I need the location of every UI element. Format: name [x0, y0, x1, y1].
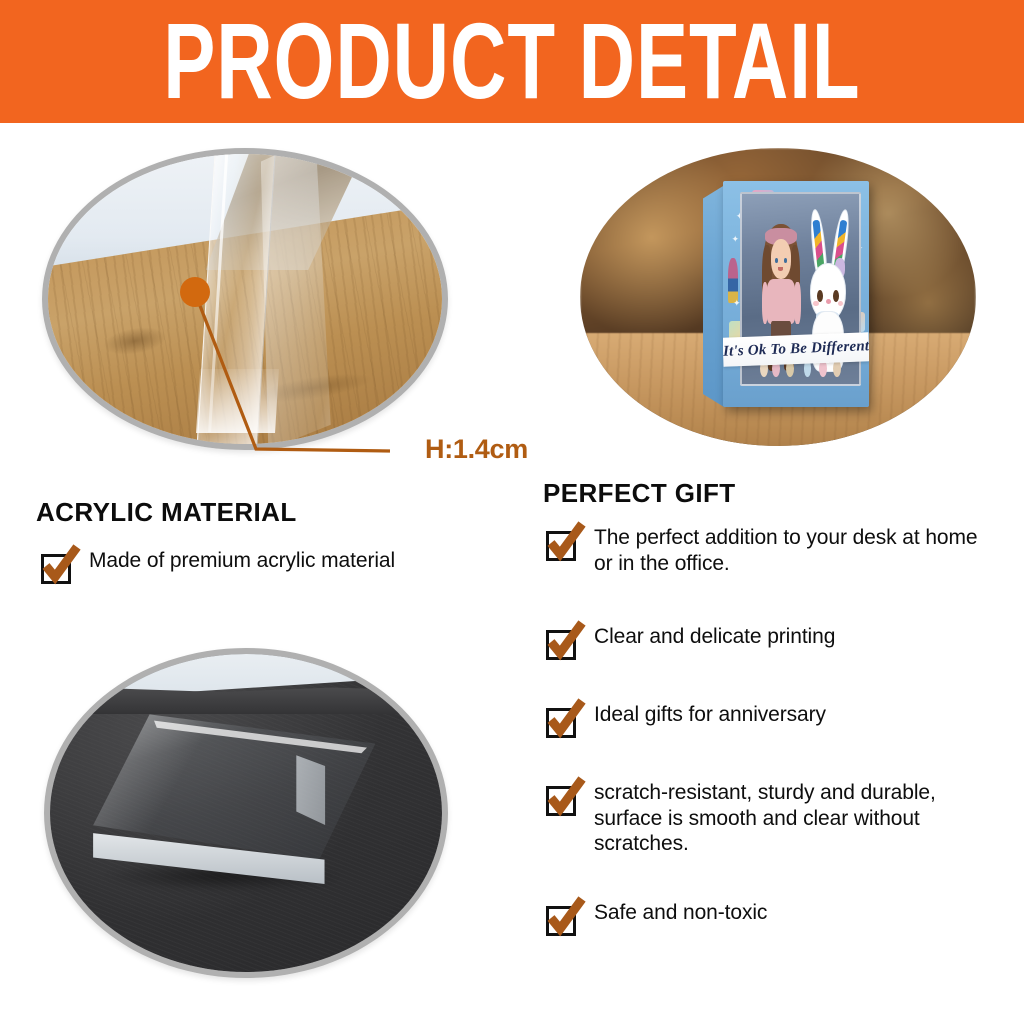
page-title: PRODUCT DETAIL: [163, 7, 860, 115]
feature-item: Ideal gifts for anniversary: [546, 702, 991, 738]
bunny-eye: [833, 290, 839, 302]
bunny-cheek: [813, 301, 819, 307]
gift-box-image: ✦ ✦ ✦ ✦ ✦ ✦: [580, 148, 976, 446]
feature-label: Ideal gifts for anniversary: [594, 702, 826, 728]
feature-label: Made of premium acrylic material: [89, 548, 395, 574]
doll-arm: [794, 282, 800, 325]
doll-eye: [784, 258, 787, 263]
feature-item: Clear and delicate printing: [546, 624, 991, 660]
feature-item: scratch-resistant, sturdy and durable, s…: [546, 780, 1006, 857]
checkbox-checked: [546, 527, 580, 561]
box-caption-text: It's Ok To Be Different: [723, 338, 869, 361]
awareness-ribbon-icon: [728, 258, 738, 303]
checkmark-icon: [545, 521, 587, 563]
slate-back-edge: [50, 686, 442, 715]
box-side-panel: [703, 185, 725, 407]
checkbox-checked: [41, 550, 75, 584]
slate-surface: [50, 654, 442, 972]
doll-sweater: [767, 279, 796, 325]
feature-label: Clear and delicate printing: [594, 624, 835, 650]
doll-face: [771, 239, 792, 279]
height-label: H:1.4cm: [425, 434, 528, 465]
checkmark-icon: [40, 544, 82, 586]
header-banner: PRODUCT DETAIL: [0, 0, 1024, 123]
feature-label: The perfect addition to your desk at hom…: [594, 525, 991, 576]
checkmark-icon: [545, 698, 587, 740]
checkmark-icon: [545, 896, 587, 938]
bunny-eye: [817, 290, 823, 302]
box-front-panel: ✦ ✦ ✦ ✦ ✦ ✦: [723, 181, 869, 407]
feature-item: The perfect addition to your desk at hom…: [546, 525, 991, 576]
bunny-cheek: [838, 301, 844, 307]
checkmark-icon: [545, 620, 587, 662]
doll-arm: [762, 282, 768, 325]
product-box: ✦ ✦ ✦ ✦ ✦ ✦: [703, 181, 869, 407]
checkbox-checked: [546, 626, 580, 660]
puzzle-pattern-icon: [812, 220, 825, 270]
feature-item: Made of premium acrylic material: [41, 548, 511, 584]
acrylic-block: [93, 714, 375, 911]
feature-label: Safe and non-toxic: [594, 900, 767, 926]
acrylic-block-image: [44, 648, 448, 978]
checkmark-icon: [545, 776, 587, 818]
checkbox-checked: [546, 782, 580, 816]
section-title-perfect-gift: PERFECT GIFT: [543, 478, 736, 509]
product-detail-page: PRODUCT DETAIL H:1.4cm: [0, 0, 1024, 1024]
acrylic-base-glow: [196, 369, 279, 433]
feature-item: Safe and non-toxic: [546, 900, 991, 936]
checkbox-checked: [546, 902, 580, 936]
section-title-acrylic-material: ACRYLIC MATERIAL: [36, 497, 297, 528]
bunny-nose: [826, 299, 831, 304]
wood-scene: [48, 154, 442, 444]
acrylic-edge-image: [42, 148, 448, 450]
feature-label: scratch-resistant, sturdy and durable, s…: [594, 780, 1006, 857]
checkbox-checked: [546, 704, 580, 738]
star-icon: ✦: [731, 235, 739, 244]
box-caption-banner: It's Ok To Be Different: [723, 332, 869, 367]
doll-mouth: [778, 267, 783, 270]
doll-eye: [775, 258, 778, 263]
